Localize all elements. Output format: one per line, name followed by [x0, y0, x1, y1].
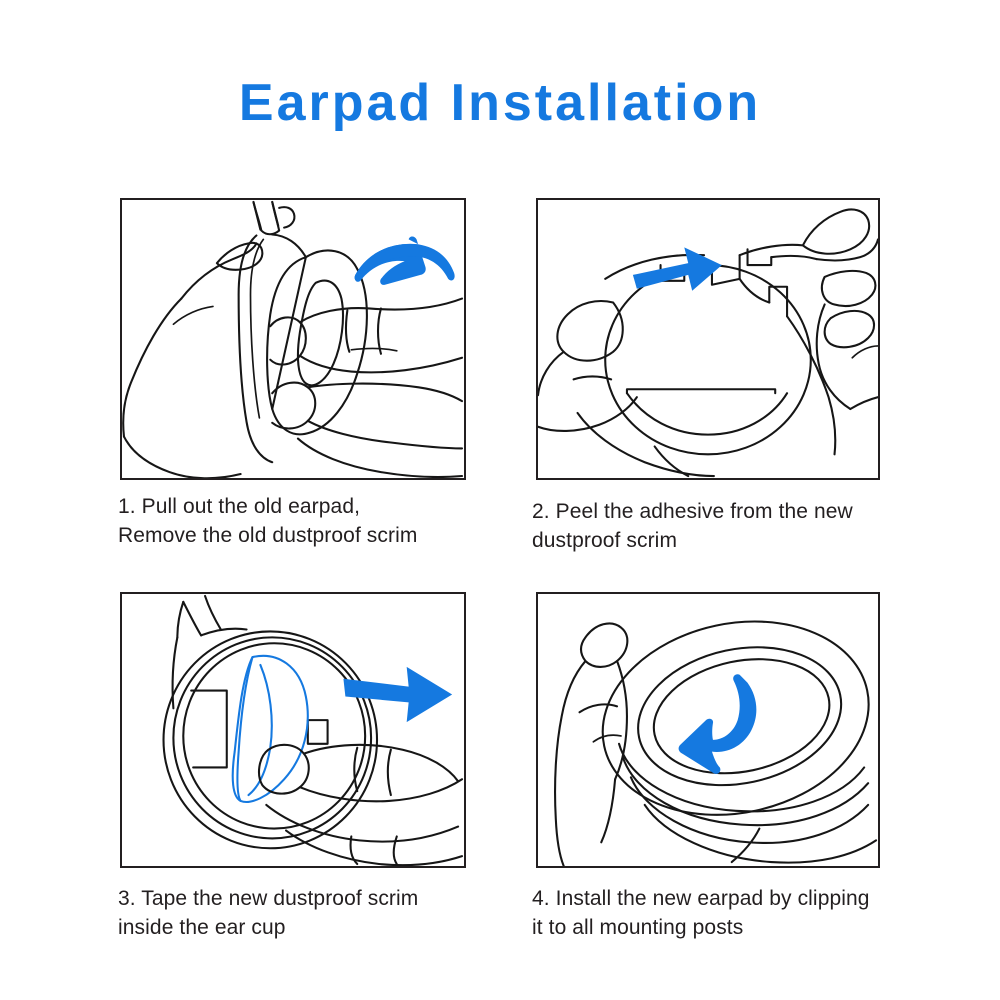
step-1-illustration-panel: [120, 198, 466, 480]
step-1-artwork: [122, 200, 464, 478]
step-3-illustration-panel: [120, 592, 466, 868]
step-3-caption: 3. Tape the new dustproof scrim inside t…: [118, 884, 518, 942]
step-4-caption: 4. Install the new earpad by clipping it…: [532, 884, 952, 942]
step-2-illustration-panel: [536, 198, 880, 480]
step-4-illustration-panel: [536, 592, 880, 868]
page-title: Earpad Installation: [0, 72, 1000, 134]
step-2-artwork: [538, 200, 878, 478]
instruction-sheet: Earpad Installation: [0, 0, 1000, 1000]
step-4-artwork: [538, 594, 878, 866]
step-1-caption: 1. Pull out the old earpad, Remove the o…: [118, 492, 518, 550]
step-2-caption: 2. Peel the adhesive from the new dustpr…: [532, 497, 932, 555]
step-3-artwork: [122, 594, 464, 866]
